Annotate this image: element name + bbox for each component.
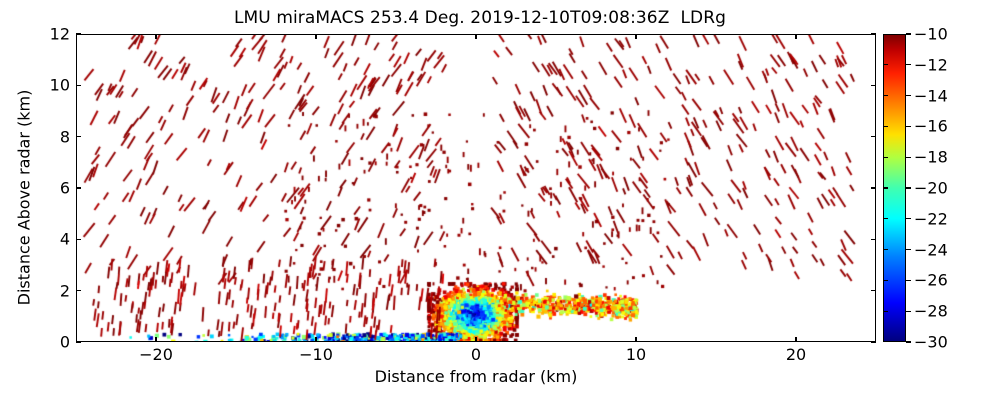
- colorbar-tick-mark-inner: [884, 64, 888, 65]
- colorbar-tick-mark: [906, 157, 911, 158]
- colorbar-tick-mark-inner: [884, 95, 888, 96]
- x-tick-label: −10: [299, 345, 333, 364]
- colorbar-tick-mark: [906, 341, 911, 342]
- colorbar-tick-label: −12: [914, 55, 948, 74]
- colorbar-tick-label: −16: [914, 117, 948, 136]
- scatter-canvas: [77, 35, 876, 342]
- y-tick-mark: [871, 136, 876, 137]
- colorbar-tick-label: −28: [914, 302, 948, 321]
- colorbar-tick-mark: [906, 311, 911, 312]
- x-tick-mark: [155, 34, 156, 39]
- colorbar-tick-mark: [906, 249, 911, 250]
- y-tick-mark: [76, 187, 81, 188]
- colorbar-tick-mark-inner: [884, 126, 888, 127]
- x-tick-mark: [475, 337, 476, 342]
- x-tick-mark: [635, 337, 636, 342]
- y-tick-label: 8: [60, 127, 70, 146]
- colorbar-tick-label: −24: [914, 240, 948, 259]
- x-tick-mark: [315, 337, 316, 342]
- y-tick-label: 10: [50, 76, 70, 95]
- colorbar-tick-label: −18: [914, 148, 948, 167]
- y-tick-mark: [76, 290, 81, 291]
- plot-area[interactable]: [76, 34, 876, 342]
- y-tick-mark: [76, 33, 81, 34]
- y-tick-mark: [871, 341, 876, 342]
- colorbar-tick-mark: [906, 95, 911, 96]
- colorbar-tick-label: −26: [914, 271, 948, 290]
- y-tick-label: 6: [60, 179, 70, 198]
- colorbar-tick-label: −10: [914, 25, 948, 44]
- y-tick-label: 2: [60, 281, 70, 300]
- colorbar-tick-mark: [906, 187, 911, 188]
- colorbar-tick-mark: [906, 280, 911, 281]
- y-tick-mark: [76, 136, 81, 137]
- x-tick-label: 10: [626, 345, 646, 364]
- colorbar-tick-mark-inner: [884, 187, 888, 188]
- colorbar-tick-label: −30: [914, 333, 948, 352]
- colorbar-tick-label: −20: [914, 179, 948, 198]
- page-title: LMU miraMACS 253.4 Deg. 2019-12-10T09:08…: [0, 8, 960, 28]
- y-tick-mark: [871, 33, 876, 34]
- y-tick-label: 12: [50, 25, 70, 44]
- colorbar-tick-label: −14: [914, 86, 948, 105]
- y-tick-mark: [871, 290, 876, 291]
- y-tick-label: 4: [60, 230, 70, 249]
- y-tick-mark: [871, 187, 876, 188]
- y-tick-mark: [871, 85, 876, 86]
- x-tick-label: −20: [139, 345, 173, 364]
- colorbar-tick-mark-inner: [884, 280, 888, 281]
- x-tick-mark: [315, 34, 316, 39]
- colorbar-tick-mark: [906, 33, 911, 34]
- y-axis-label: Distance Above radar (km): [15, 38, 34, 358]
- colorbar-tick-label: −22: [914, 209, 948, 228]
- y-tick-mark: [76, 239, 81, 240]
- y-tick-mark: [76, 85, 81, 86]
- x-tick-mark: [155, 337, 156, 342]
- x-tick-mark: [795, 34, 796, 39]
- y-tick-mark: [871, 239, 876, 240]
- colorbar-tick-mark: [906, 218, 911, 219]
- x-tick-mark: [635, 34, 636, 39]
- colorbar-tick-mark: [906, 126, 911, 127]
- colorbar-tick-mark-inner: [884, 218, 888, 219]
- radar-rhi-figure: LMU miraMACS 253.4 Deg. 2019-12-10T09:08…: [0, 0, 1000, 400]
- colorbar-tick-mark-inner: [884, 249, 888, 250]
- colorbar-tick-mark-inner: [884, 157, 888, 158]
- x-tick-label: 20: [786, 345, 806, 364]
- x-tick-mark: [475, 34, 476, 39]
- x-tick-mark: [795, 337, 796, 342]
- colorbar-tick-mark-inner: [884, 311, 888, 312]
- x-axis-label: Distance from radar (km): [76, 367, 876, 386]
- x-tick-label: 0: [471, 345, 481, 364]
- colorbar-tick-mark: [906, 64, 911, 65]
- y-tick-mark: [76, 341, 81, 342]
- y-tick-label: 0: [60, 333, 70, 352]
